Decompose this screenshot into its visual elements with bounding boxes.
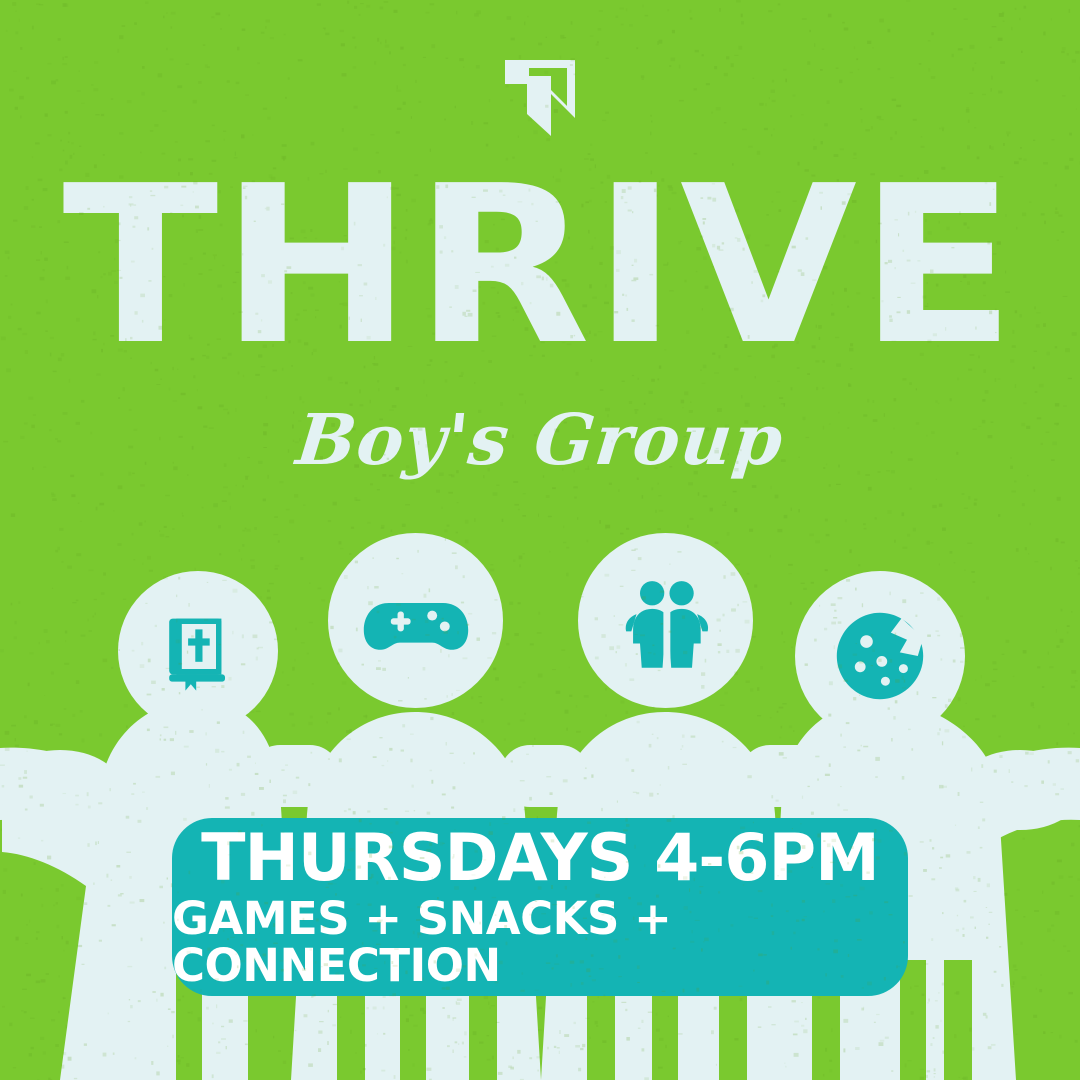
icon-bubble-game — [328, 533, 503, 708]
friends-icon — [614, 569, 718, 673]
poster-canvas: THRIVE Boy's Group — [0, 0, 1080, 1080]
page-title: THRIVE — [0, 158, 1080, 376]
banner-activities-text: GAMES + SNACKS + CONNECTION — [172, 895, 908, 990]
icon-bubble-friends — [578, 533, 753, 708]
banner-time-text: THURSDAYS 4-6PM — [201, 825, 879, 893]
icon-bubble-cookie — [795, 571, 965, 741]
poster-subtitle: Boy's Group — [0, 398, 1080, 481]
icon-bubble-bible — [118, 571, 278, 731]
bible-icon — [153, 606, 243, 696]
event-details-banner: THURSDAYS 4-6PM GAMES + SNACKS + CONNECT… — [172, 818, 908, 996]
cookie-icon — [826, 602, 934, 710]
game-controller-icon — [362, 567, 470, 675]
